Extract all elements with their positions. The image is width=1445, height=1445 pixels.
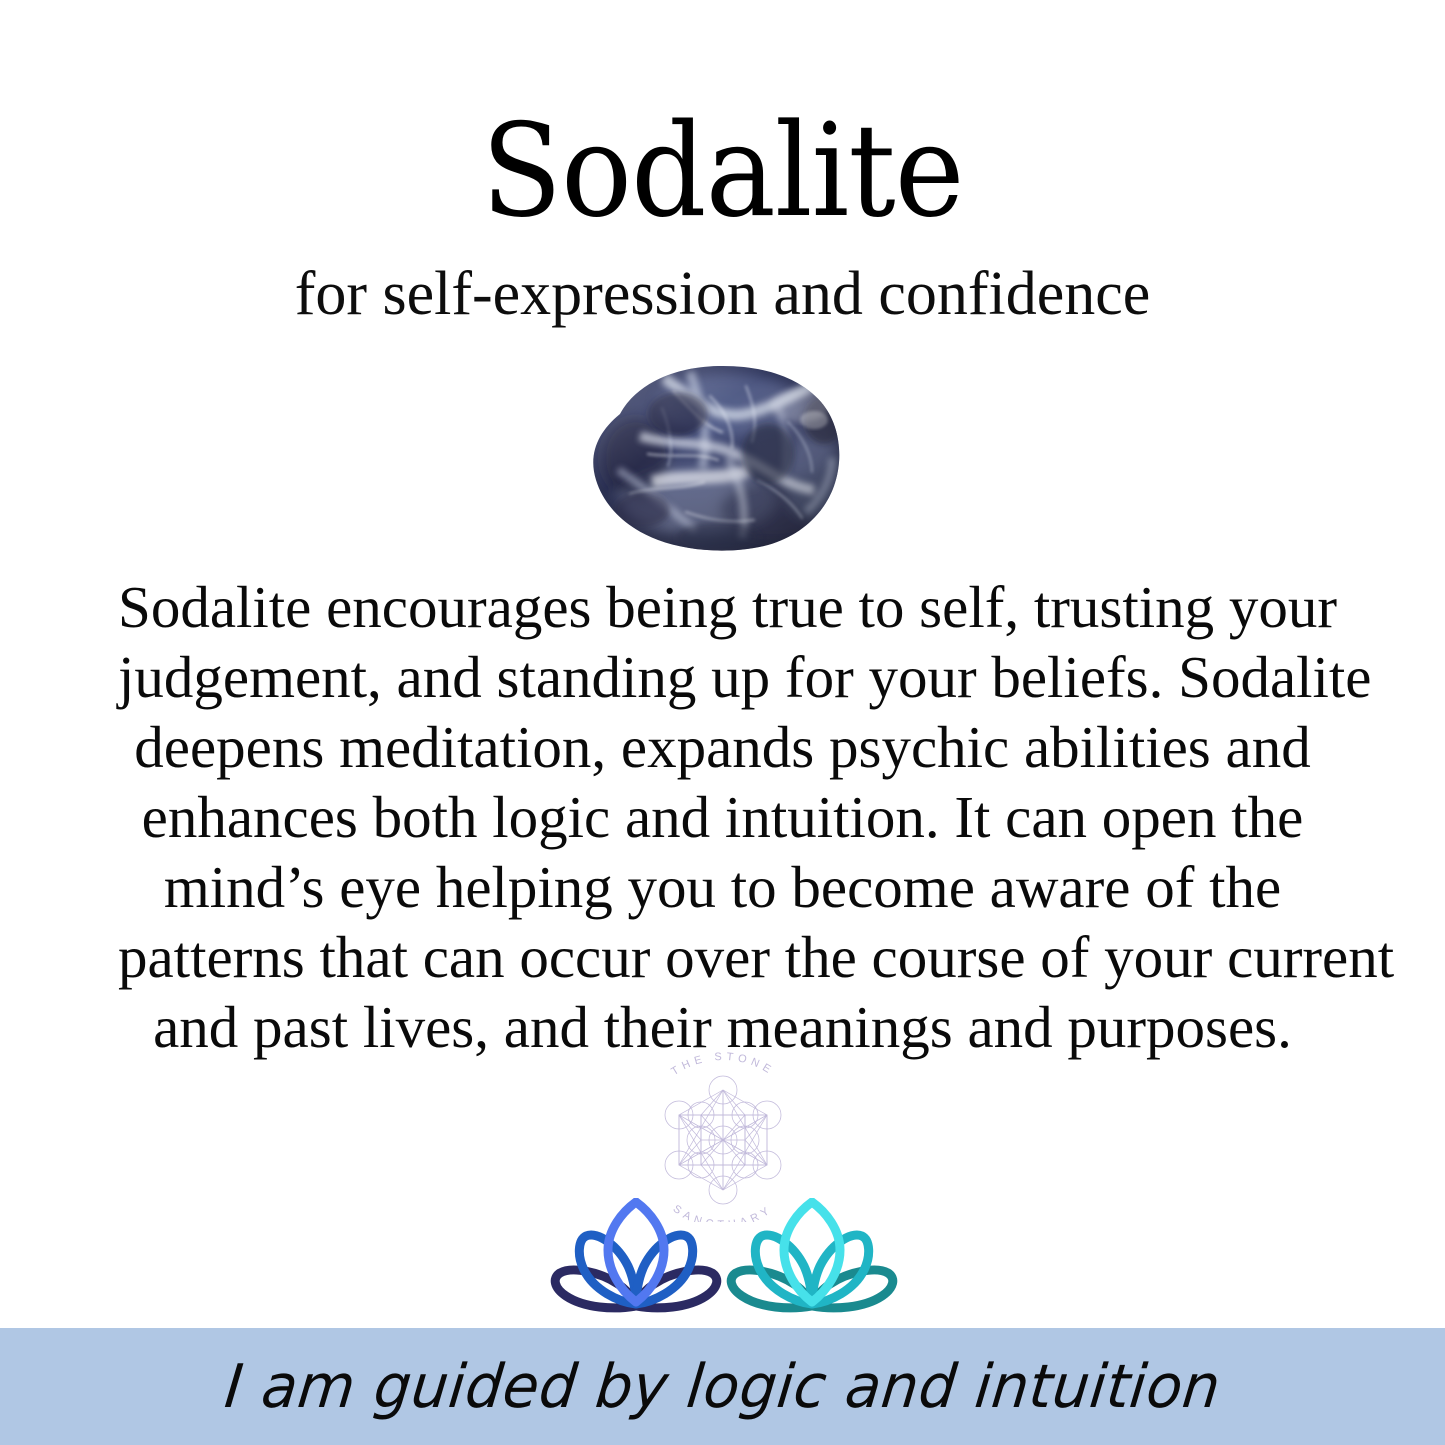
description-line: mind’s eye helping you to become aware o…	[118, 852, 1327, 922]
description-line: deepens meditation, expands psychic abil…	[118, 712, 1327, 782]
lotus-logo-pair	[548, 1196, 900, 1316]
lotus-logo-blue	[550, 1198, 722, 1316]
crescent-moon-right	[815, 1119, 829, 1151]
description-line: Sodalite encourages being true to self, …	[118, 572, 1327, 642]
description-paragraph: Sodalite encourages being true to self, …	[118, 572, 1327, 1062]
svg-text:THE STONE: THE STONE	[669, 1052, 776, 1078]
sodalite-stone-image	[578, 362, 848, 554]
sodalite-crystal-info-card: Sodalite for self-expression and confide…	[0, 0, 1445, 1445]
affirmation-banner: I am guided by logic and intuition	[0, 1328, 1445, 1445]
description-line: patterns that can occur over the course …	[118, 922, 1327, 992]
page-subtitle: for self-expression and confidence	[0, 262, 1445, 327]
description-line: enhances both logic and intuition. It ca…	[118, 782, 1327, 852]
description-line: judgement, and standing up for your beli…	[118, 642, 1327, 712]
affirmation-text: I am guided by logic and intuition	[221, 1352, 1223, 1422]
page-title: Sodalite	[58, 108, 1387, 236]
lotus-logo-teal	[726, 1198, 898, 1316]
crescent-moon-left	[617, 1119, 631, 1151]
